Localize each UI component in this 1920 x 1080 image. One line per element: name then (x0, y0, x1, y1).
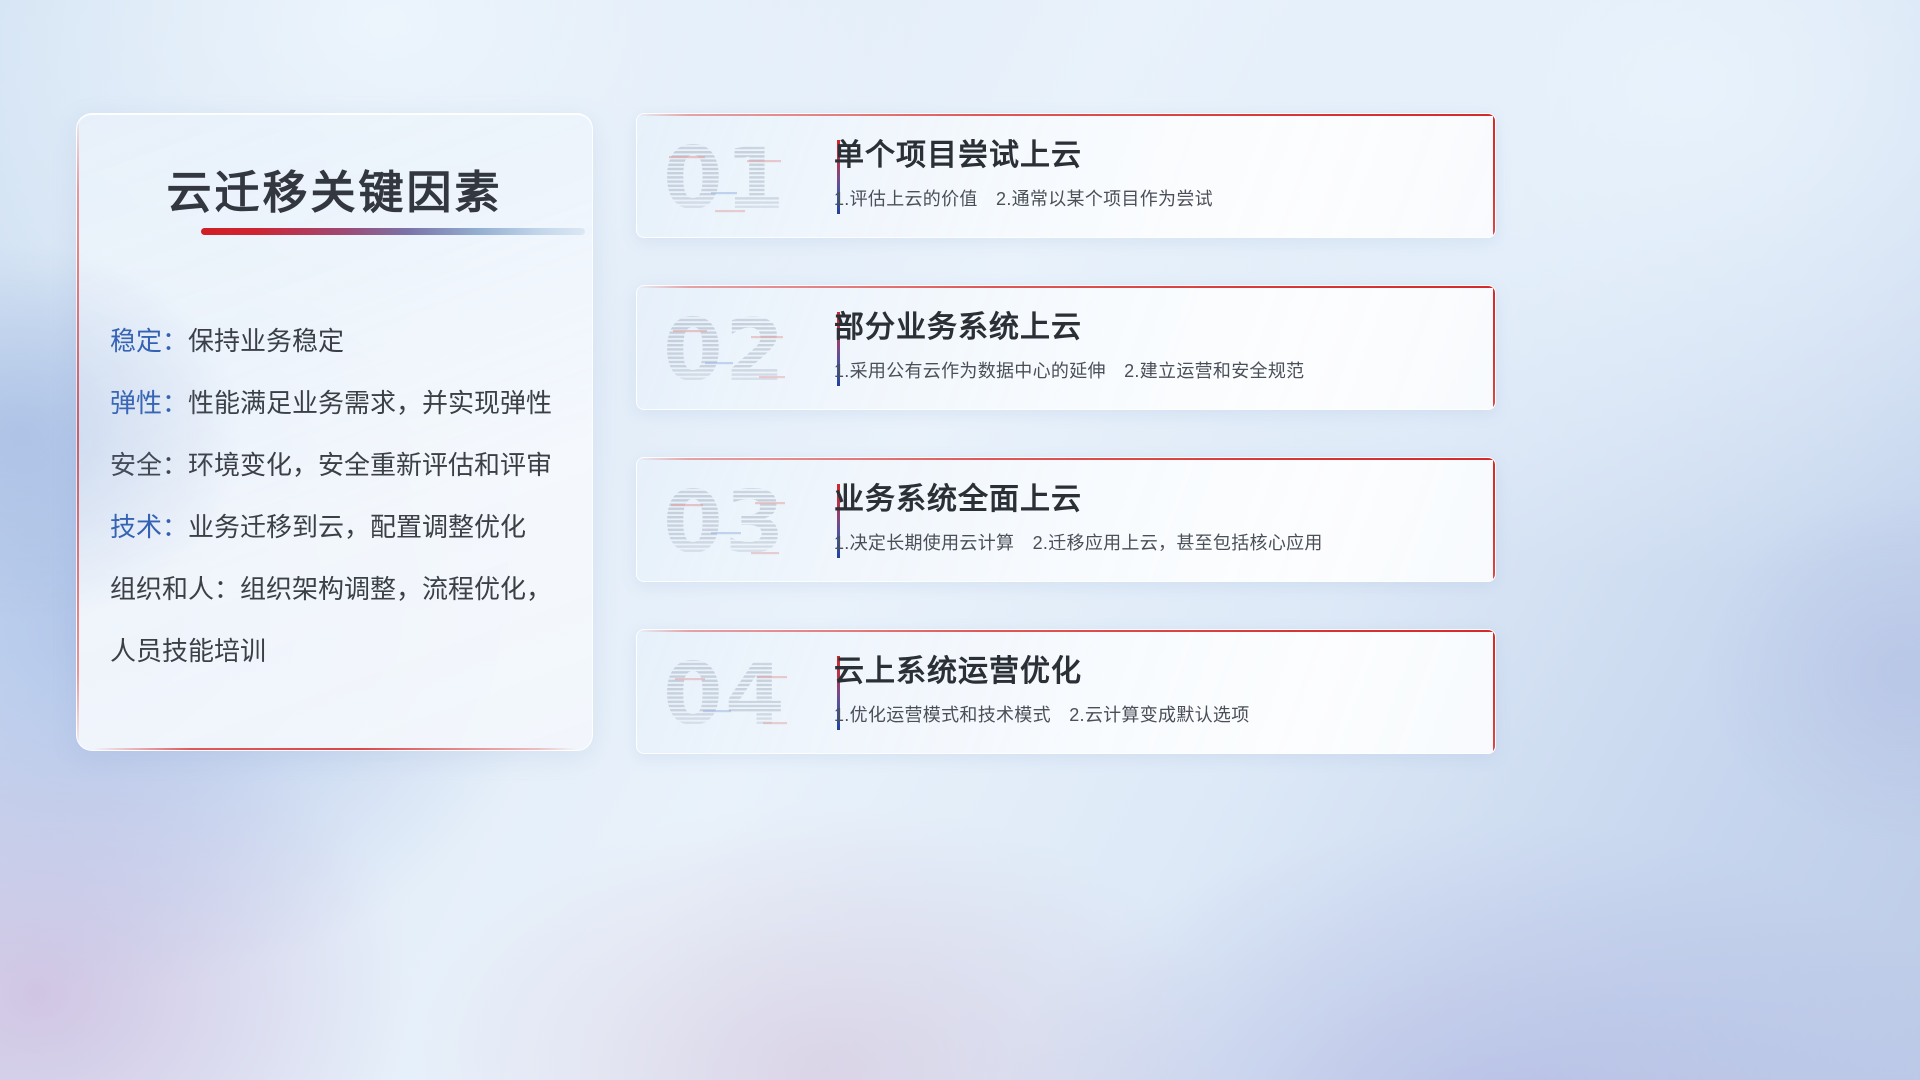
svg-text:01: 01 (663, 130, 787, 222)
stage-body: 云上系统运营优化 1.优化运营模式和技术模式 2.云计算变成默认选项 (834, 651, 1479, 728)
list-item: 技术：业务迁移到云，配置调整优化 (110, 496, 568, 558)
stage-body: 部分业务系统上云 1.采用公有云作为数据中心的延伸 2.建立运营和安全规范 (834, 307, 1479, 384)
stage-card[interactable]: 01 单个项目尝试上云 1.评估上云的价值 2.通常以某个项目作为尝试 (636, 113, 1496, 238)
stage-card[interactable]: 03 业务系统全面上云 1.决定长期使用云计算 2.迁移应用上云，甚至包括核心应… (636, 457, 1496, 582)
list-item: 组织和人：组织架构调整，流程优化， (110, 558, 568, 620)
svg-text:02: 02 (663, 302, 787, 394)
svg-text:03: 03 (663, 474, 787, 566)
page-title: 云迁移关键因素 (77, 156, 592, 221)
list-item-text: 组织架构调整，流程优化， (240, 574, 552, 604)
list-item: 人员技能培训 (110, 620, 568, 682)
list-item-text: 环境变化，安全重新评估和评审 (188, 450, 552, 480)
stage-number-watermark: 03 (659, 474, 829, 566)
stage-number-watermark: 01 (659, 130, 829, 222)
stage-title: 业务系统全面上云 (834, 479, 1479, 521)
stage-body: 单个项目尝试上云 1.评估上云的价值 2.通常以某个项目作为尝试 (834, 135, 1479, 212)
stage-subtitle: 1.评估上云的价值 2.通常以某个项目作为尝试 (834, 186, 1479, 212)
stage-subtitle: 1.优化运营模式和技术模式 2.云计算变成默认选项 (834, 702, 1479, 728)
key-factors-list: 稳定：保持业务稳定 弹性：性能满足业务需求，并实现弹性 安全：环境变化，安全重新… (110, 310, 568, 682)
list-item-text: 人员技能培训 (110, 636, 266, 666)
key-factors-panel: 云迁移关键因素 稳定：保持业务稳定 弹性：性能满足业务需求，并实现弹性 安全：环… (76, 113, 593, 751)
title-divider (201, 228, 585, 235)
svg-text:04: 04 (663, 646, 787, 738)
slide-canvas: 云迁移关键因素 稳定：保持业务稳定 弹性：性能满足业务需求，并实现弹性 安全：环… (0, 0, 1920, 1080)
list-item-text: 保持业务稳定 (188, 326, 344, 356)
stage-title: 单个项目尝试上云 (834, 135, 1479, 177)
stage-title: 部分业务系统上云 (834, 307, 1479, 349)
stage-body: 业务系统全面上云 1.决定长期使用云计算 2.迁移应用上云，甚至包括核心应用 (834, 479, 1479, 556)
stage-title: 云上系统运营优化 (834, 651, 1479, 693)
stage-subtitle: 1.采用公有云作为数据中心的延伸 2.建立运营和安全规范 (834, 358, 1479, 384)
list-item-text: 性能满足业务需求，并实现弹性 (188, 388, 552, 418)
list-item-text: 业务迁移到云，配置调整优化 (188, 512, 526, 542)
list-item: 弹性：性能满足业务需求，并实现弹性 (110, 372, 568, 434)
list-item: 安全：环境变化，安全重新评估和评审 (110, 434, 568, 496)
list-item-label: 技术： (110, 512, 188, 542)
list-item-label: 组织和人： (110, 574, 240, 604)
list-item: 稳定：保持业务稳定 (110, 310, 568, 372)
stage-card[interactable]: 02 部分业务系统上云 1.采用公有云作为数据中心的延伸 2.建立运营和安全规范 (636, 285, 1496, 410)
list-item-label: 稳定： (110, 326, 188, 356)
list-item-label: 弹性： (110, 388, 188, 418)
stage-card[interactable]: 04 云上系统运营优化 1.优化运营模式和技术模式 2.云计算变成默认选项 (636, 629, 1496, 754)
stage-number-watermark: 02 (659, 302, 829, 394)
stage-subtitle: 1.决定长期使用云计算 2.迁移应用上云，甚至包括核心应用 (834, 530, 1479, 556)
list-item-label: 安全： (110, 450, 188, 480)
stage-number-watermark: 04 (659, 646, 829, 738)
